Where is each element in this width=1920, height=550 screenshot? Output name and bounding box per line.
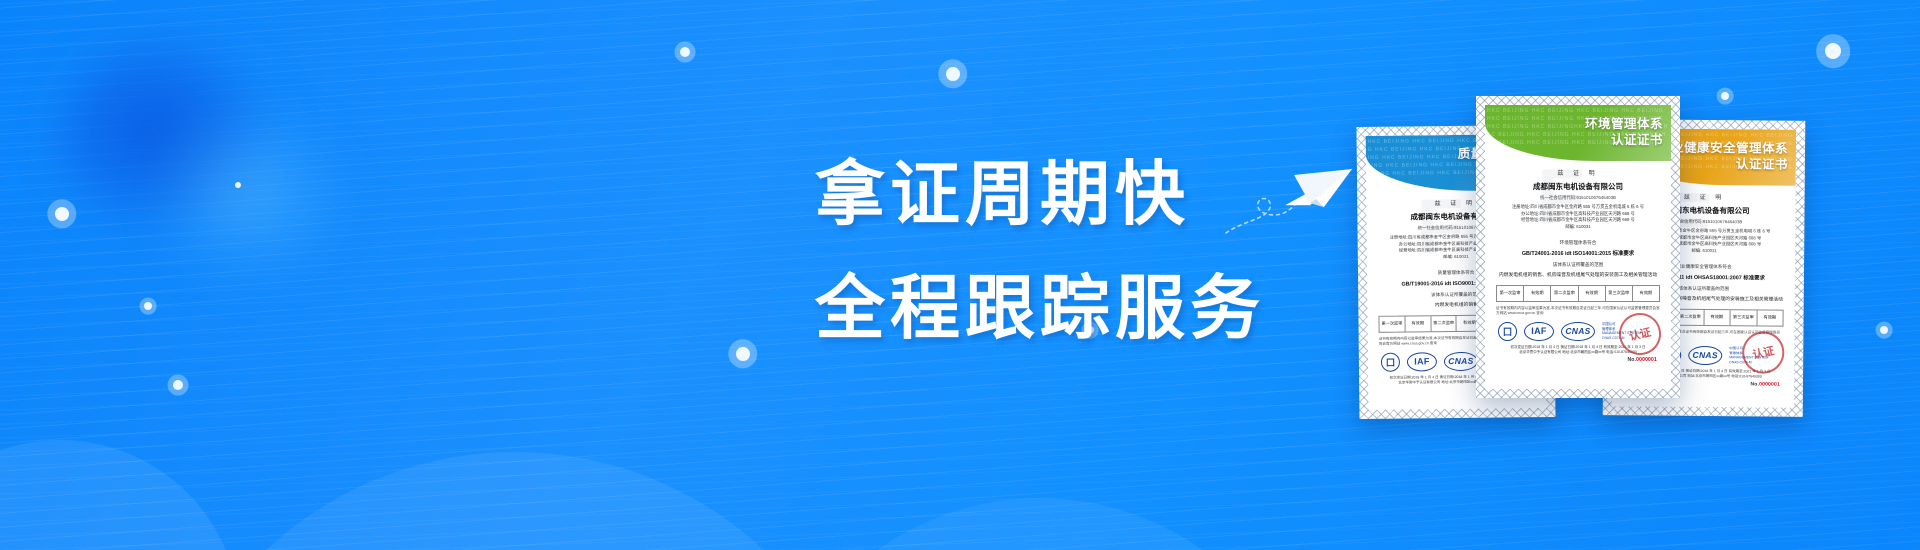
decor-dot-1 — [55, 207, 69, 221]
certificate-table-cell: 第三次监审 — [1731, 310, 1758, 325]
decor-circle-d — [760, 498, 1320, 550]
certificate-table-cell: 有效期 — [1405, 316, 1431, 331]
headline-row-1: 拿证周期快 — [815, 150, 1364, 238]
certificate-table-cell: 有效期 — [1757, 310, 1783, 325]
certificate-header: HKC BEIJING HKC BEIJING HKC BEIJING HKC … — [1485, 105, 1671, 161]
headline-line-2: 全程跟踪服务 — [815, 273, 1265, 343]
decor-dot-2 — [144, 302, 152, 310]
certificate-table-cell: 第一次监审 — [1379, 316, 1405, 331]
certificate-face: HKC BEIJING HKC BEIJING HKC BEIJING HKC … — [1485, 105, 1671, 389]
decor-dot-3 — [680, 47, 690, 57]
certificate-serial-number: No.0000001 — [1494, 355, 1662, 363]
decor-dot-8 — [1825, 43, 1841, 59]
certificate-reg-code: 统一社会信用代码:915101067646403B — [1494, 195, 1662, 201]
certificate-title-line-2: 认证证书 — [1611, 133, 1663, 149]
certificate-table-cell: 第二次监审 — [1678, 310, 1705, 325]
headline-line-1: 拿证周期快 — [815, 159, 1190, 229]
certificate-table-cell: 第二次监审 — [1551, 286, 1578, 301]
certificate-company-name: 成都闽东电机设备有限公司 — [1494, 181, 1662, 192]
certificate-scope-label: 该体系认证所覆盖的范围 — [1494, 262, 1662, 268]
certificate-system-label: 环境管理体系符合 — [1494, 240, 1662, 246]
certificate-environmental-management-system[interactable]: HKC BEIJING HKC BEIJING HKC BEIJING HKC … — [1476, 96, 1680, 398]
certificate-stack: HKC BEIJING HKC BEIJING HKC BEIJING HKC … — [1358, 78, 1918, 478]
certificate-table-cell: 有效期 — [1579, 286, 1606, 301]
certificate-audit-table: 第一次监审有效期第二次监审有效期第三次监审有效期 — [1496, 285, 1660, 302]
cnas-seal-icon: CNAS — [1444, 351, 1478, 370]
certificate-scope: 内燃发电机组的销售、机房噪音及机组尾气处理的安装施工及相关管理活动 — [1494, 272, 1662, 279]
paper-plane-icon — [1224, 149, 1364, 239]
decor-dot-5 — [736, 347, 750, 361]
headline-row-2: 全程跟踪服务 — [815, 264, 1364, 352]
certificate-postcode: 邮编: 610031 — [1494, 224, 1662, 231]
certificate-table-cell: 第一次监审 — [1497, 286, 1524, 301]
cnas-seal-icon: CNAS — [1688, 345, 1722, 364]
iaf-seal-icon: IAF — [1407, 352, 1437, 371]
certificate-standard: GB/T24001-2016 idt ISO14001:2015 标准要求 — [1494, 249, 1662, 257]
promo-banner: 拿证周期快 全程跟踪服务 HKC BEIJING HKC BEIJING HKC… — [0, 0, 1920, 550]
cnca-seal-icon: 囗 — [1381, 352, 1400, 371]
decor-circle-a — [0, 440, 240, 550]
cnas-seal-icon: CNAS — [1561, 322, 1595, 341]
certificate-table-cell: 第三次监审 — [1606, 286, 1633, 301]
cnca-seal-icon: 囗 — [1498, 322, 1517, 341]
certificate-title-line-1: 环境管理体系 — [1585, 117, 1663, 133]
certificate-address-1: 注册地址:四川省成都市金牛区金府路 555 号万贯五金机电城 6 栋 6 号 — [1494, 204, 1662, 211]
certificate-table-cell: 有效期 — [1704, 310, 1731, 325]
certificate-table-cell: 有效期 — [1524, 286, 1551, 301]
certificate-zhengming: 兹 证 明 — [1494, 168, 1662, 177]
iaf-seal-icon: IAF — [1524, 322, 1554, 341]
headline-block: 拿证周期快 全程跟踪服务 — [815, 150, 1364, 352]
decor-circle-b — [150, 452, 880, 550]
decor-dot-10 — [173, 380, 183, 390]
certificate-table-cell: 第二次监审 — [1431, 316, 1457, 331]
certificate-table-cell: 有效期 — [1633, 286, 1659, 301]
certificate-title-line-2: 认证证书 — [1736, 157, 1788, 173]
certificate-address-3: 经营地址:四川省成都市金牛区高科技产业园区天河路 668 号 — [1494, 217, 1662, 224]
decor-dot-4 — [946, 67, 960, 81]
background-glow-light — [150, 105, 350, 285]
